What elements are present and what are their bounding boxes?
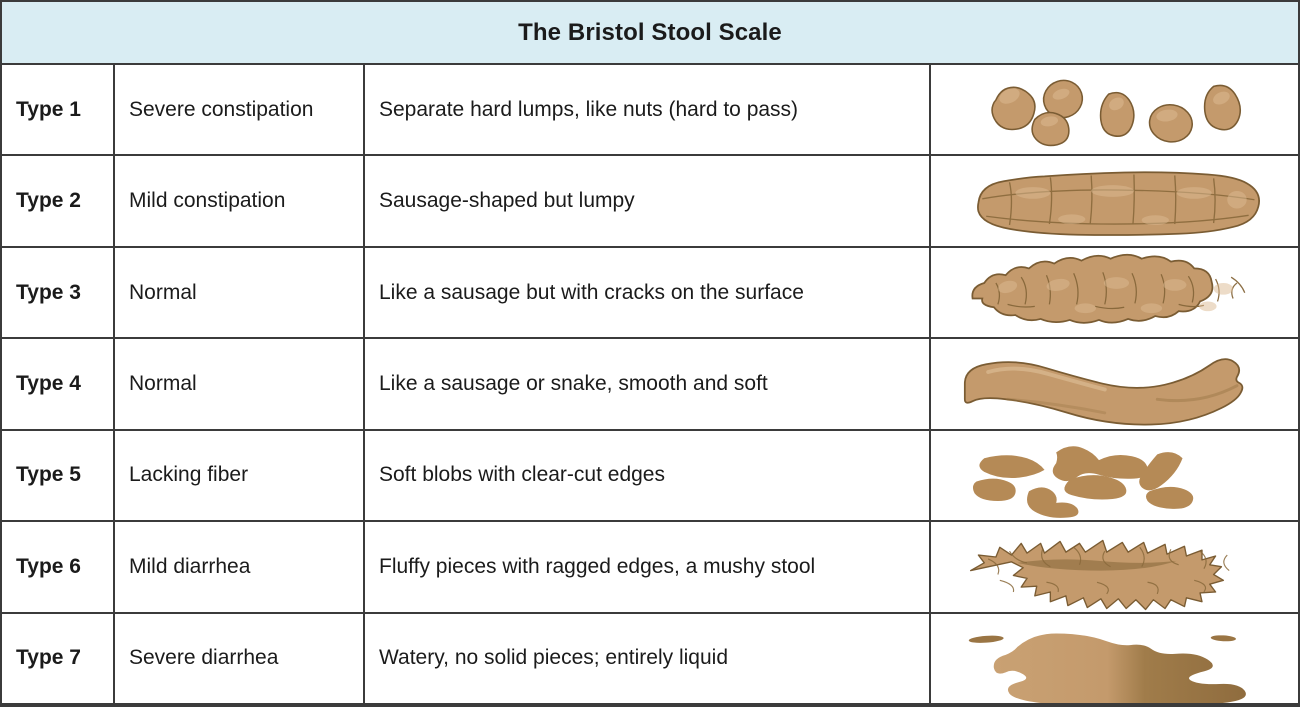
watery-liquid-icon <box>931 614 1298 703</box>
page-title: The Bristol Stool Scale <box>518 19 782 47</box>
type-label: Type 3 <box>2 248 115 337</box>
table-row: Type 3 Normal Like a sausage but with cr… <box>2 248 1298 339</box>
cracked-sausage-icon <box>931 248 1298 337</box>
severity-label: Severe diarrhea <box>115 614 365 703</box>
type-label: Type 6 <box>2 522 115 611</box>
severity-label: Severe constipation <box>115 65 365 154</box>
severity-label: Lacking fiber <box>115 431 365 520</box>
type-label: Type 1 <box>2 65 115 154</box>
description-label: Fluffy pieces with ragged edges, a mushy… <box>365 522 931 611</box>
table-row: Type 4 Normal Like a sausage or snake, s… <box>2 339 1298 430</box>
type-label: Type 2 <box>2 156 115 245</box>
table-body: Type 1 Severe constipation Separate hard… <box>0 65 1300 705</box>
table-row: Type 1 Severe constipation Separate hard… <box>2 65 1298 156</box>
severity-label: Normal <box>115 339 365 428</box>
description-label: Like a sausage or snake, smooth and soft <box>365 339 931 428</box>
table-title-bar: The Bristol Stool Scale <box>0 0 1300 65</box>
description-label: Sausage-shaped but lumpy <box>365 156 931 245</box>
severity-label: Mild diarrhea <box>115 522 365 611</box>
bristol-stool-scale-table: The Bristol Stool Scale Type 1 Severe co… <box>0 0 1300 707</box>
table-row: Type 7 Severe diarrhea Watery, no solid … <box>2 614 1298 703</box>
description-label: Like a sausage but with cracks on the su… <box>365 248 931 337</box>
severity-label: Mild constipation <box>115 156 365 245</box>
table-row: Type 2 Mild constipation Sausage-shaped … <box>2 156 1298 247</box>
severity-label: Normal <box>115 248 365 337</box>
type-label: Type 5 <box>2 431 115 520</box>
description-label: Soft blobs with clear-cut edges <box>365 431 931 520</box>
description-label: Separate hard lumps, like nuts (hard to … <box>365 65 931 154</box>
smooth-snake-icon <box>931 339 1298 428</box>
type-label: Type 7 <box>2 614 115 703</box>
description-label: Watery, no solid pieces; entirely liquid <box>365 614 931 703</box>
type-label: Type 4 <box>2 339 115 428</box>
mushy-ragged-icon <box>931 522 1298 611</box>
table-row: Type 6 Mild diarrhea Fluffy pieces with … <box>2 522 1298 613</box>
soft-blobs-icon <box>931 431 1298 520</box>
separate-hard-lumps-icon <box>931 65 1298 154</box>
lumpy-sausage-icon <box>931 156 1298 245</box>
table-row: Type 5 Lacking fiber Soft blobs with cle… <box>2 431 1298 522</box>
